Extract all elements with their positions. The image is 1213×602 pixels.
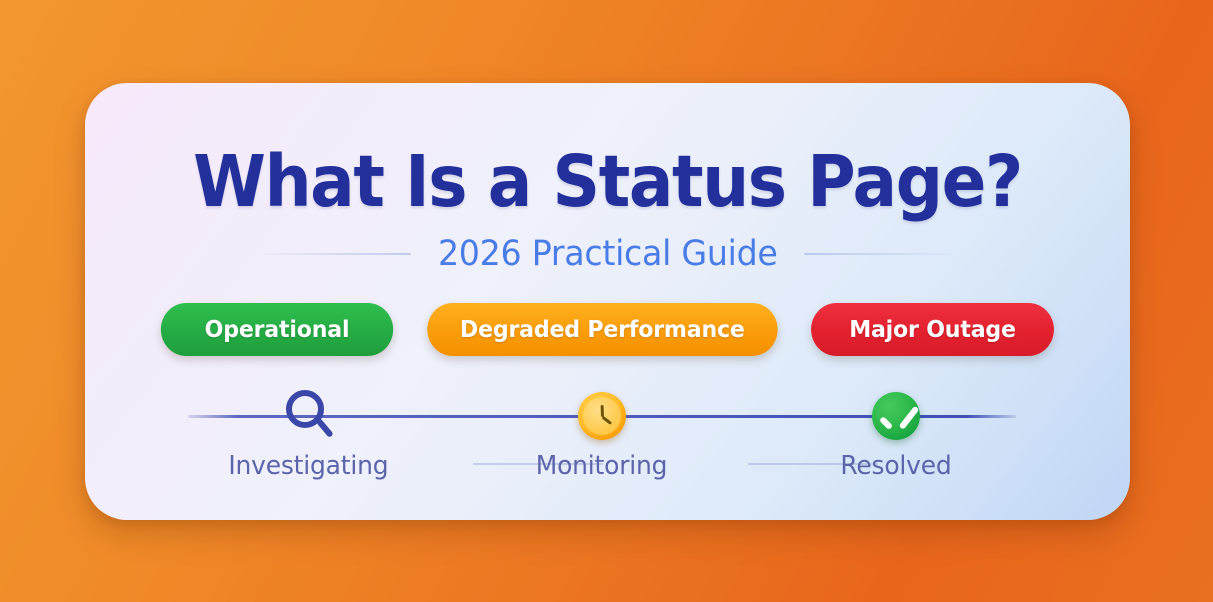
status-badge-degraded[interactable]: Degraded Performance	[427, 303, 777, 356]
timeline-step-resolved[interactable]: Resolved	[776, 383, 1016, 481]
status-badge-outage[interactable]: Major Outage	[811, 303, 1054, 356]
status-badge-degraded-label: Degraded Performance	[460, 317, 745, 343]
timeline-steps: Investigating Monitoring	[188, 383, 1016, 481]
subtitle-row: 2026 Practical Guide	[85, 231, 1130, 277]
magnifying-glass-icon	[284, 383, 332, 449]
status-badge-outage-label: Major Outage	[849, 317, 1016, 343]
timeline-step-resolved-label: Resolved	[840, 451, 951, 481]
status-badge-group: Operational Degraded Performance Major O…	[85, 303, 1130, 356]
subtitle-rule-left	[263, 253, 411, 255]
timeline-step-monitoring[interactable]: Monitoring	[482, 383, 722, 481]
timeline-step-investigating[interactable]: Investigating	[188, 383, 428, 481]
incident-timeline: Investigating Monitoring	[188, 383, 1016, 483]
check-circle-icon	[872, 383, 920, 449]
timeline-step-monitoring-label: Monitoring	[536, 451, 668, 481]
status-badge-operational[interactable]: Operational	[161, 303, 393, 356]
status-page-card: What Is a Status Page? 2026 Practical Gu…	[85, 83, 1130, 520]
status-badge-operational-label: Operational	[204, 317, 349, 343]
page-title: What Is a Status Page?	[122, 140, 1094, 223]
timeline-step-investigating-label: Investigating	[228, 451, 388, 481]
subtitle-rule-right	[804, 253, 952, 255]
clock-icon	[578, 383, 626, 449]
page-subtitle: 2026 Practical Guide	[438, 234, 778, 274]
